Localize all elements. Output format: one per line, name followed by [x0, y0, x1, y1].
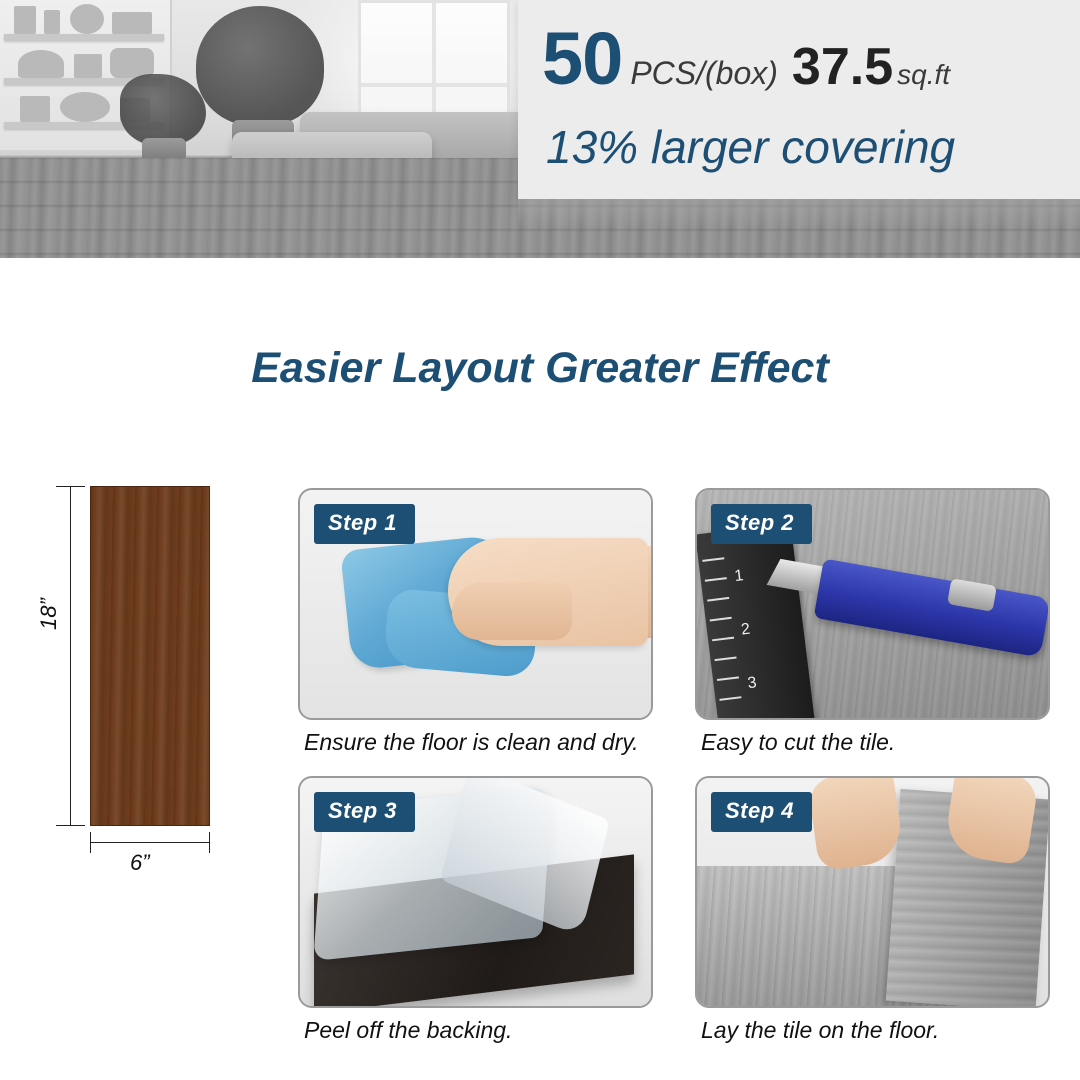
step-1-badge: Step 1 [314, 504, 415, 544]
ruler-mark: 3 [747, 674, 758, 693]
plank-grain-texture [91, 487, 209, 825]
hero-spec-row: 50 PCS/(box) 37.5 sq.ft [542, 22, 950, 96]
coverage-unit: sq.ft [897, 59, 950, 91]
hero-spec-panel: 50 PCS/(box) 37.5 sq.ft 13% larger cover… [518, 0, 1080, 199]
hero-panel-shadow [518, 199, 1080, 227]
hero-banner: 50 PCS/(box) 37.5 sq.ft 13% larger cover… [0, 0, 1080, 258]
step-card: Step 3 Peel off the backing. [298, 776, 653, 1044]
step-4-caption: Lay the tile on the floor. [695, 1017, 1050, 1044]
step-3-caption: Peel off the backing. [298, 1017, 653, 1044]
step-4-image: Step 4 [695, 776, 1050, 1008]
step-1-caption: Ensure the floor is clean and dry. [298, 729, 653, 756]
quantity-unit: PCS/(box) [630, 55, 778, 92]
step-card: Step 4 Lay the tile on the floor. [695, 776, 1050, 1044]
height-dimension-label: 18” [36, 598, 62, 630]
step-3-image: Step 3 [298, 776, 653, 1008]
width-dimension-label: 6” [130, 850, 150, 876]
hero-tagline: 13% larger covering [546, 120, 955, 174]
step-3-badge: Step 3 [314, 792, 415, 832]
step-card: Step 1 Ensure the floor is clean and dry… [298, 488, 653, 756]
width-dimension-line [90, 842, 210, 843]
quantity-value: 50 [542, 22, 622, 96]
plant-decor-small [120, 74, 206, 146]
height-dimension-line [70, 486, 71, 826]
step-2-image: 1 2 3 Step 2 [695, 488, 1050, 720]
fingers-decor [452, 582, 572, 640]
step-1-image: Step 1 [298, 488, 653, 720]
plant-decor-large [196, 6, 324, 126]
page-title: Easier Layout Greater Effect [0, 344, 1080, 393]
step-2-badge: Step 2 [711, 504, 812, 544]
installation-steps-grid: Step 1 Ensure the floor is clean and dry… [298, 488, 1050, 1044]
coverage-value: 37.5 [792, 41, 893, 93]
plank-dimension-diagram: 18” 6” [30, 470, 270, 870]
ruler-mark: 2 [740, 621, 751, 640]
ruler-mark: 1 [734, 567, 745, 586]
step-4-badge: Step 4 [711, 792, 812, 832]
step-2-caption: Easy to cut the tile. [695, 729, 1050, 756]
step-card: 1 2 3 Step 2 Easy to cut the tile. [695, 488, 1050, 756]
plank-swatch [90, 486, 210, 826]
